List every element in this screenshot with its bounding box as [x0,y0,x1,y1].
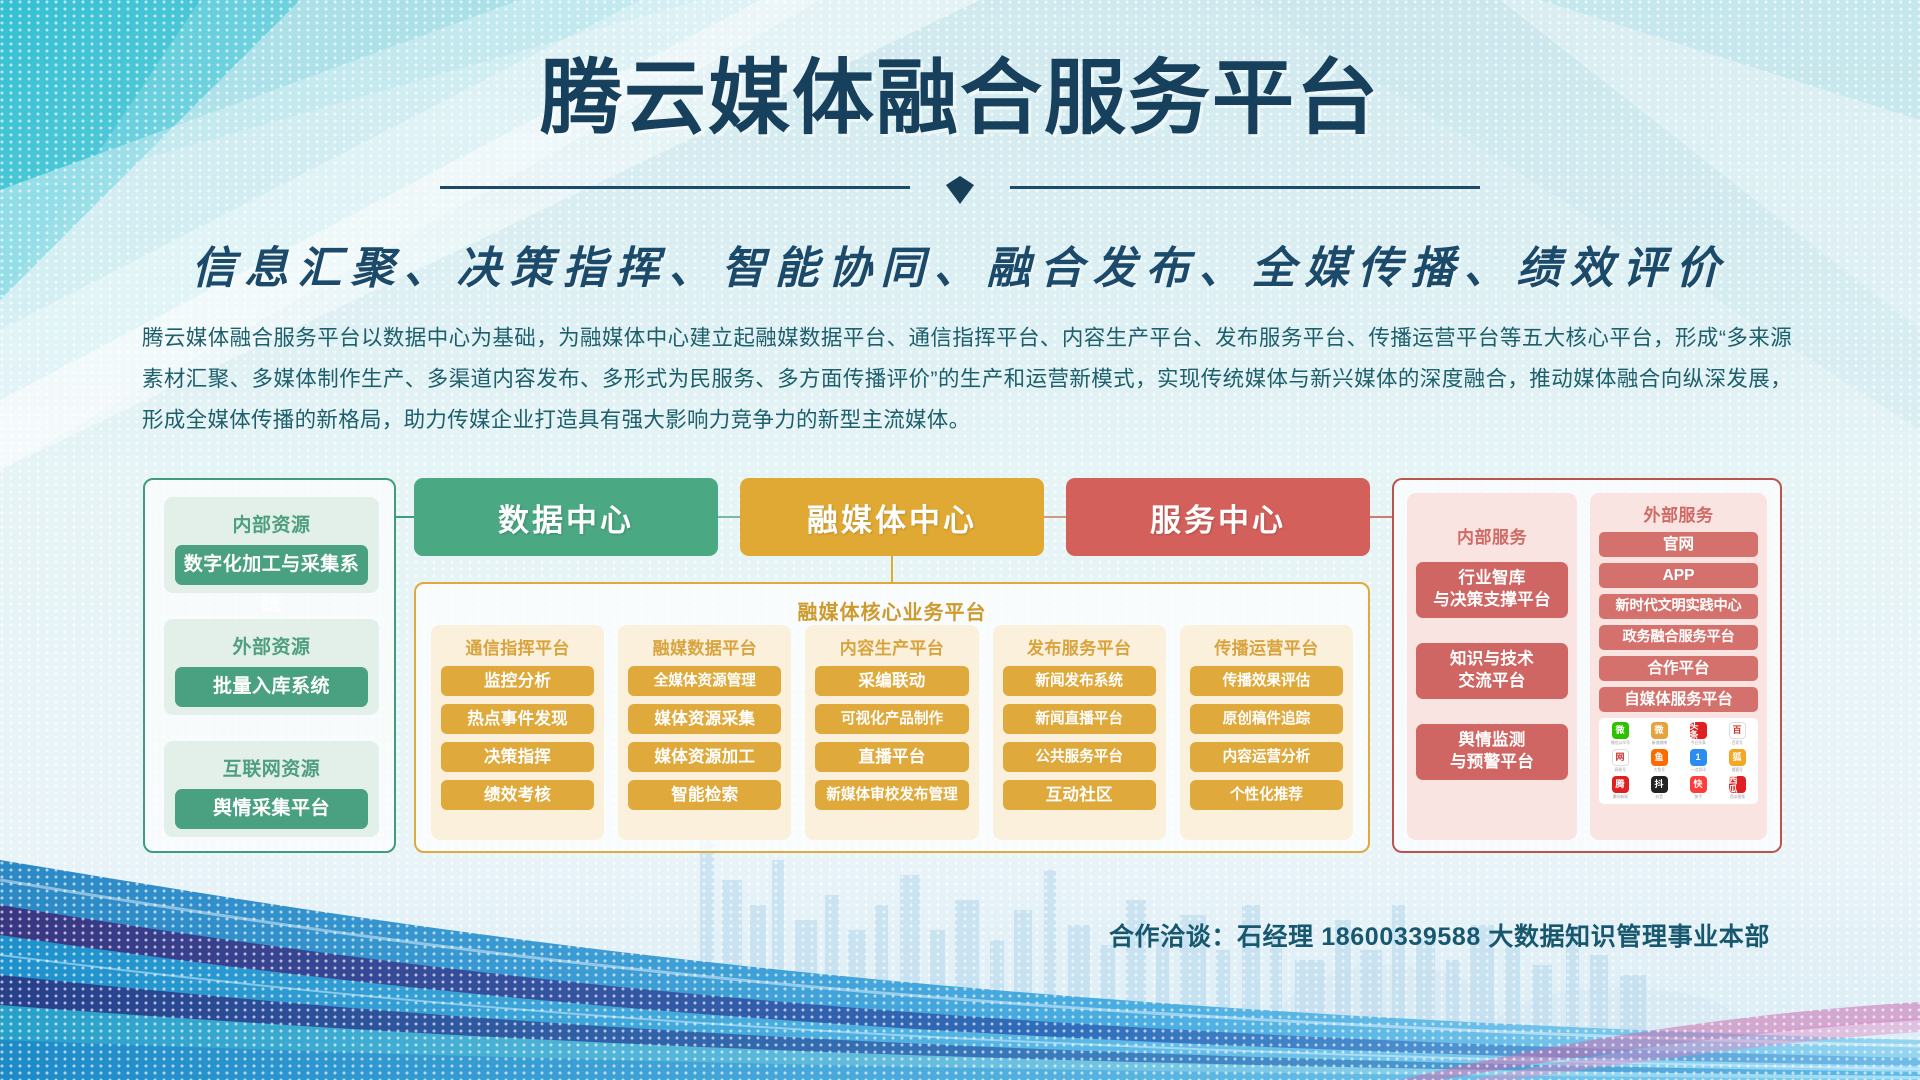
connector-resources-to-data [396,516,414,518]
app-icon-label: 大鱼号 [1653,767,1664,772]
app-icon: 快 [1690,776,1707,793]
internal-service-item[interactable]: 舆情监测与预警平台 [1416,724,1568,780]
social-app-icon-cell[interactable]: 快快手 [1680,776,1716,800]
app-icon: 网 [1612,749,1629,766]
resource-caption: 互联网资源 [164,741,379,781]
external-service-item[interactable]: 新时代文明实践中心 [1599,594,1758,619]
core-item[interactable]: 全媒体资源管理 [628,666,781,696]
core-column-caption: 内容生产平台 [815,634,968,659]
core-item[interactable]: 智能检索 [628,780,781,810]
core-column-caption: 传播运营平台 [1190,634,1343,659]
external-services-caption: 外部服务 [1599,501,1758,526]
external-service-item[interactable]: 官网 [1599,532,1758,557]
core-item[interactable]: 直播平台 [815,742,968,772]
core-item[interactable]: 决策指挥 [441,742,594,772]
core-item[interactable]: 采编联动 [815,666,968,696]
app-icon-label: 抖音 [1655,794,1663,799]
intro-paragraph: 腾云媒体融合服务平台以数据中心为基础，为融媒体中心建立起融媒数据平台、通信指挥平… [142,318,1792,441]
app-icon-label: 新浪微博 [1651,740,1666,745]
social-app-icon-grid: 微微信公众号微新浪微博头条今日头条百百家号网网易号鱼大鱼号1一点资讯狐搜狐号腾腾… [1599,718,1758,804]
core-item[interactable]: 新媒体审校发布管理 [815,780,968,810]
services-panel: 内部服务 行业智库与决策支撑平台 知识与技术交流平台 舆情监测与预警平台 外部服… [1392,478,1782,853]
social-app-icon-cell[interactable]: 抖抖音 [1641,776,1677,800]
core-item[interactable]: 内容运营分析 [1190,742,1343,772]
resource-platform[interactable]: 数字化加工与采集系统 [175,545,368,585]
core-panel-title: 融媒体核心业务平台 [416,596,1368,625]
core-item[interactable]: 个性化推荐 [1190,780,1343,810]
social-app-icon-cell[interactable]: 百百家号 [1719,722,1755,746]
core-item[interactable]: 可视化产品制作 [815,704,968,734]
core-item[interactable]: 媒体资源加工 [628,742,781,772]
core-item[interactable]: 新闻直播平台 [1003,704,1156,734]
app-icon: 微 [1651,722,1668,739]
internal-services-column: 内部服务 行业智库与决策支撑平台 知识与技术交流平台 舆情监测与预警平台 [1407,493,1577,840]
center-media[interactable]: 融媒体中心 [740,478,1044,556]
connector-data-to-media [718,516,740,518]
core-column-communication: 通信指挥平台 监控分析 热点事件发现 决策指挥 绩效考核 [431,625,604,840]
app-icon-label: 一点资讯 [1690,767,1705,772]
social-app-icon-cell[interactable]: 1一点资讯 [1680,749,1716,773]
app-icon: 狐 [1729,749,1746,766]
app-icon-label: 微信公众号 [1611,740,1630,745]
core-column-caption: 发布服务平台 [1003,634,1156,659]
core-item[interactable]: 原创稿件追踪 [1190,704,1343,734]
app-icon: 抖 [1651,776,1668,793]
divider-line-left [440,186,910,189]
external-service-item[interactable]: 合作平台 [1599,656,1758,681]
core-column-data: 融媒数据平台 全媒体资源管理 媒体资源采集 媒体资源加工 智能检索 [618,625,791,840]
app-icon-label: 今日头条 [1690,740,1705,745]
connector-media-to-service [1044,516,1066,518]
center-data[interactable]: 数据中心 [414,478,718,556]
core-item[interactable]: 公共服务平台 [1003,742,1156,772]
page-title: 腾云媒体融合服务平台 [0,58,1920,140]
app-icon: 百 [1729,722,1746,739]
app-icon-label: 搜狐号 [1731,767,1742,772]
core-column-operations: 传播运营平台 传播效果评估 原创稿件追踪 内容运营分析 个性化推荐 [1180,625,1353,840]
core-item[interactable]: 监控分析 [441,666,594,696]
app-icon: 腾 [1612,776,1629,793]
core-column-publish: 发布服务平台 新闻发布系统 新闻直播平台 公共服务平台 互动社区 [993,625,1166,840]
internal-services-caption: 内部服务 [1416,523,1568,548]
external-service-item[interactable]: 政务融合服务平台 [1599,625,1758,650]
core-column-content: 内容生产平台 采编联动 可视化产品制作 直播平台 新媒体审校发布管理 [805,625,978,840]
app-icon-label: 百家号 [1731,740,1742,745]
internal-service-item[interactable]: 知识与技术交流平台 [1416,643,1568,699]
external-service-item[interactable]: 自媒体服务平台 [1599,687,1758,712]
core-column-caption: 融媒数据平台 [628,634,781,659]
title-divider [440,178,1480,204]
diamond-icon [946,176,974,204]
social-app-icon-cell[interactable]: 头条今日头条 [1680,722,1716,746]
social-app-icon-cell[interactable]: 腾腾讯新闻 [1602,776,1638,800]
center-service[interactable]: 服务中心 [1066,478,1370,556]
app-icon-label: 西瓜视频 [1729,794,1744,799]
contact-footer: 合作洽谈：石经理 18600339588 大数据知识管理事业本部 [0,917,1920,953]
resource-card-internet[interactable]: 互联网资源 舆情采集平台 [164,741,379,837]
app-icon: 1 [1690,749,1707,766]
connector-media-to-core [891,556,893,582]
connector-service-to-services [1370,516,1392,518]
app-icon: 西瓜 [1729,776,1746,793]
core-item[interactable]: 媒体资源采集 [628,704,781,734]
social-app-icon-cell[interactable]: 网网易号 [1602,749,1638,773]
resource-card-internal[interactable]: 内部资源 数字化加工与采集系统 [164,497,379,593]
app-icon-label: 网易号 [1614,767,1625,772]
social-app-icon-cell[interactable]: 鱼大鱼号 [1641,749,1677,773]
app-icon: 头条 [1690,722,1707,739]
internal-service-item[interactable]: 行业智库与决策支撑平台 [1416,562,1568,618]
core-item[interactable]: 热点事件发现 [441,704,594,734]
app-icon-label: 快手 [1694,794,1702,799]
architecture-diagram: 内部资源 数字化加工与采集系统 外部资源 批量入库系统 互联网资源 舆情采集平台… [0,470,1920,850]
app-icon: 微 [1612,722,1629,739]
app-icon-label: 腾讯新闻 [1612,794,1627,799]
core-item[interactable]: 绩效考核 [441,780,594,810]
resource-caption: 外部资源 [164,619,379,659]
core-item[interactable]: 互动社区 [1003,780,1156,810]
page-subtitle: 信息汇聚、决策指挥、智能协同、融合发布、全媒传播、绩效评价 [0,232,1920,296]
core-business-panel: 融媒体核心业务平台 通信指挥平台 监控分析 热点事件发现 决策指挥 绩效考核 融… [414,582,1370,853]
social-app-icon-cell[interactable]: 微新浪微博 [1641,722,1677,746]
social-app-icon-cell[interactable]: 狐搜狐号 [1719,749,1755,773]
social-app-icon-cell[interactable]: 微微信公众号 [1602,722,1638,746]
social-app-icon-cell[interactable]: 西瓜西瓜视频 [1719,776,1755,800]
divider-line-right [1010,186,1480,189]
resources-panel: 内部资源 数字化加工与采集系统 外部资源 批量入库系统 互联网资源 舆情采集平台 [143,478,396,853]
app-icon: 鱼 [1651,749,1668,766]
resource-card-external[interactable]: 外部资源 批量入库系统 [164,619,379,715]
resource-platform[interactable]: 批量入库系统 [175,667,368,707]
external-services-column: 外部服务 官网 APP 新时代文明实践中心 政务融合服务平台 合作平台 自媒体服… [1590,493,1767,840]
core-item[interactable]: 新闻发布系统 [1003,666,1156,696]
core-item[interactable]: 传播效果评估 [1190,666,1343,696]
resource-caption: 内部资源 [164,497,379,537]
core-column-caption: 通信指挥平台 [441,634,594,659]
resource-platform[interactable]: 舆情采集平台 [175,789,368,829]
external-service-item[interactable]: APP [1599,563,1758,588]
